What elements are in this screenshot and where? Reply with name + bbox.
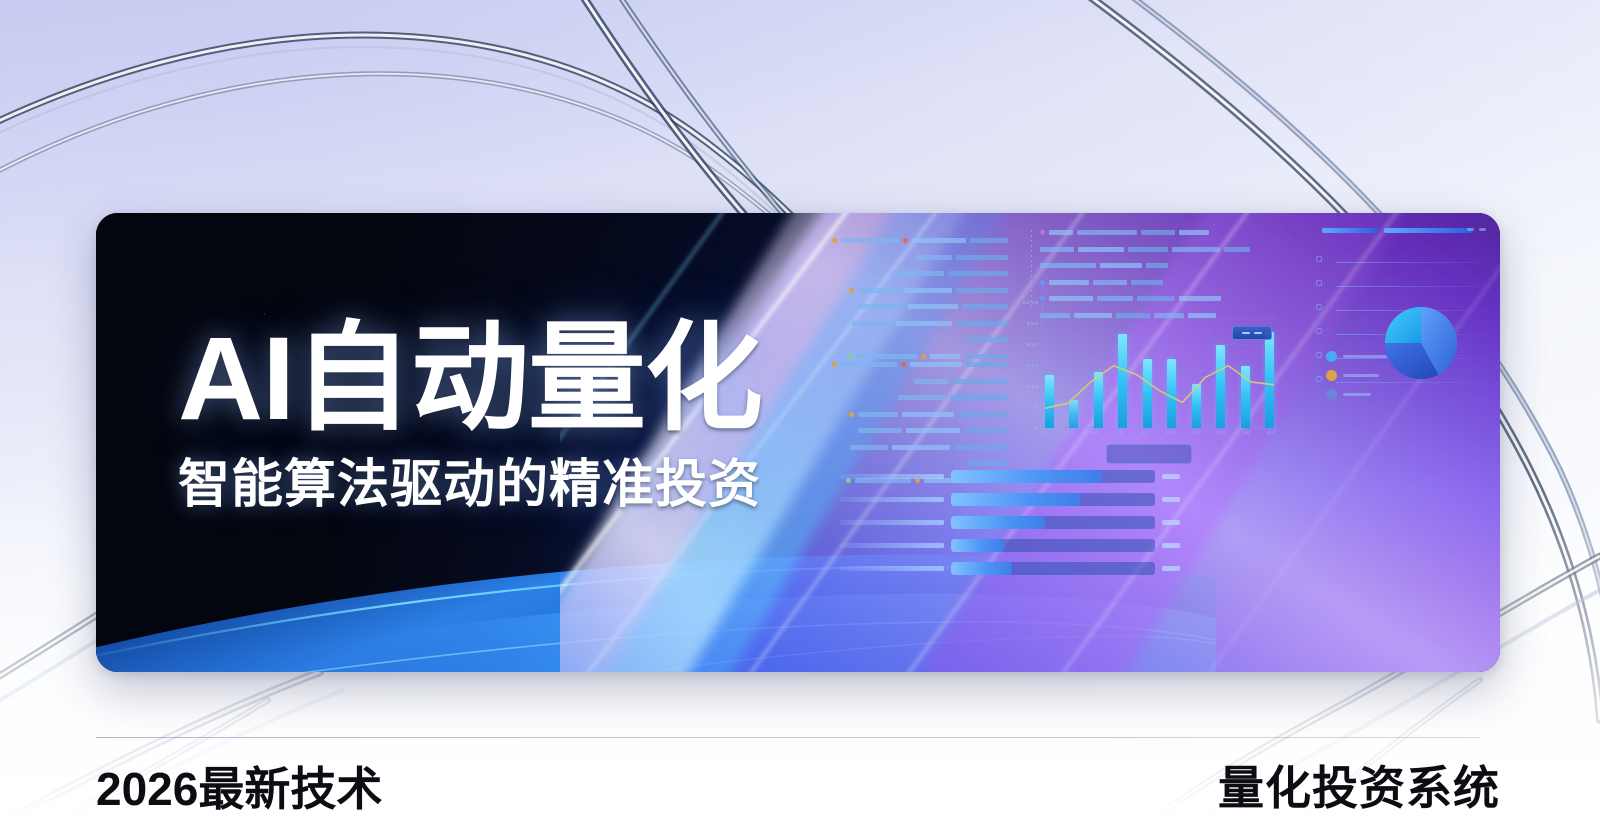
code-token: [1100, 263, 1142, 268]
chart-x-tick-label: 5/10: [1165, 430, 1174, 435]
code-line: [832, 286, 1008, 295]
legend-swatch: [1326, 370, 1337, 381]
chart-x-tick-label: 1/13: [1065, 430, 1074, 435]
code-line: [1040, 228, 1290, 237]
progress-label: [840, 497, 944, 502]
progress-value: [1162, 520, 1180, 525]
code-token: [857, 354, 917, 359]
panel-sidebar-icon[interactable]: [1316, 352, 1322, 358]
bar-chart: 0.0.7.02.5.08.2.00.1.01.4.000 0/31/132/1…: [1014, 300, 1276, 448]
chart-y-tick-label: 0: [1035, 405, 1038, 410]
hero-banner-card[interactable]: 0.0.7.02.5.08.2.00.1.01.4.000 0/31/132/1…: [96, 213, 1500, 672]
code-token: [848, 354, 853, 359]
code-token: [1040, 280, 1045, 285]
code-token: [1078, 247, 1124, 252]
code-token: [1049, 280, 1089, 285]
code-token: [958, 412, 1008, 417]
panel-sidebar-icon[interactable]: [1316, 376, 1322, 382]
code-line: [832, 269, 1008, 278]
chart-y-tick-label: 0: [1035, 426, 1038, 431]
code-line: [832, 459, 1008, 468]
pie-legend-row: [1326, 351, 1387, 362]
vertical-dotted-divider: [1031, 230, 1032, 308]
chart-plot-area: [1042, 304, 1276, 428]
page-subtitle: 智能算法驱动的精准投资: [178, 457, 838, 514]
pie-legend-row: [1326, 370, 1387, 381]
chart-x-tick-label: 5/1X: [1216, 430, 1225, 435]
code-token: [841, 362, 897, 367]
chart-x-axis: 0/31/132/193/153/145/106/1X5/1X1/606/17: [1042, 430, 1276, 435]
code-token: [921, 354, 926, 359]
code-token: [902, 412, 954, 417]
code-token: [1040, 247, 1074, 252]
code-token: [908, 304, 958, 309]
code-line: [832, 360, 1008, 369]
code-token: [892, 271, 944, 276]
code-token: [898, 395, 946, 400]
code-token: [1049, 230, 1073, 235]
pie-slice: [1385, 307, 1421, 343]
code-token: [1093, 280, 1127, 285]
chart-x-tick-label: 6/1X: [1191, 430, 1200, 435]
code-token: [912, 238, 967, 243]
progress-fill: [951, 539, 1004, 552]
code-token: [964, 428, 1008, 433]
panel-sidebar-icon[interactable]: [1316, 280, 1322, 286]
code-token: [970, 238, 1008, 243]
code-token: [1172, 247, 1220, 252]
chart-trend-line: [1045, 304, 1274, 427]
panel-top-dots: [1467, 228, 1486, 231]
progress-value: [1162, 543, 1180, 548]
code-line: [832, 236, 1008, 245]
code-token: [950, 395, 1008, 400]
code-line: [1040, 261, 1290, 270]
chart-y-tick-label: 0.1.0: [1027, 363, 1038, 368]
chart-x-tick-label: 3/15: [1115, 430, 1124, 435]
code-token: [1040, 230, 1045, 235]
code-token: [1224, 247, 1250, 252]
progress-row: [840, 562, 1180, 575]
code-token: [858, 428, 902, 433]
code-line: [1040, 245, 1290, 254]
code-line: [832, 302, 1008, 311]
code-token: [930, 354, 960, 359]
progress-label: [840, 474, 944, 479]
code-token: [850, 445, 888, 450]
legend-label: [1343, 393, 1371, 396]
code-token: [904, 288, 952, 293]
chart-y-axis: 0.0.7.02.5.08.2.00.1.01.4.000: [1014, 300, 1040, 428]
code-token: [849, 412, 854, 417]
code-token: [849, 288, 854, 293]
chart-y-tick-label: 8.2.0: [1027, 342, 1038, 347]
chart-x-tick-label: 1/60: [1242, 430, 1251, 435]
progress-fill: [951, 516, 1045, 529]
code-token: [1040, 263, 1096, 268]
chart-y-tick-label: 0.0.7.0: [1023, 300, 1038, 305]
code-line: [832, 410, 1008, 419]
code-token: [966, 337, 1008, 342]
progress-row: [840, 539, 1180, 552]
code-token: [906, 428, 960, 433]
code-token: [968, 461, 1008, 466]
chart-y-tick-label: 1.4.0: [1027, 384, 1038, 389]
code-token: [1146, 263, 1168, 268]
pie-legend: [1326, 351, 1387, 408]
code-token: [892, 445, 950, 450]
code-token: [966, 362, 1008, 367]
chart-x-tick-label: 2/19: [1090, 430, 1099, 435]
code-line: [832, 393, 1008, 402]
code-token: [962, 304, 1008, 309]
progress-fill: [951, 562, 1012, 575]
pie-chart: [1378, 300, 1464, 386]
panel-sidebar-icon[interactable]: [1316, 304, 1322, 310]
code-token: [852, 321, 892, 326]
code-token: [948, 271, 1008, 276]
progress-track: [951, 493, 1155, 506]
code-token: [956, 255, 1008, 260]
code-token: [1141, 230, 1175, 235]
code-line: [832, 253, 1008, 262]
panel-sidebar-icon[interactable]: [1316, 328, 1322, 334]
chart-x-tick-label: 3/14: [1140, 430, 1149, 435]
code-token: [954, 445, 1008, 450]
code-token: [841, 238, 899, 243]
panel-sidebar-icon[interactable]: [1316, 256, 1322, 262]
progress-value: [1162, 566, 1180, 571]
code-token: [1128, 247, 1168, 252]
progress-track: [951, 539, 1155, 552]
code-token: [964, 354, 1008, 359]
code-token: [956, 288, 1008, 293]
progress-value: [1162, 497, 1180, 502]
progress-row: [840, 493, 1180, 506]
footer-divider: [96, 737, 1480, 738]
legend-swatch: [1326, 389, 1337, 400]
chart-x-tick-label: 0/3: [1042, 430, 1048, 435]
code-token: [1131, 280, 1163, 285]
panel-top-bars: [1322, 228, 1472, 233]
code-token: [896, 321, 952, 326]
chart-y-tick-label: 2.5.0: [1027, 321, 1038, 326]
code-token: [910, 362, 962, 367]
code-token: [1179, 230, 1209, 235]
code-line: [832, 319, 1008, 328]
legend-label: [1343, 355, 1387, 358]
pie-legend-row: [1326, 389, 1387, 400]
panel-sidebar-icons[interactable]: [1316, 256, 1326, 400]
code-token: [901, 362, 906, 367]
code-token: [858, 304, 904, 309]
code-token: [956, 321, 1008, 326]
chart-x-tick-label: 6/17: [1267, 430, 1276, 435]
progress-label: [840, 520, 944, 525]
progress-bar-list: [840, 470, 1180, 585]
progress-row: [840, 516, 1180, 529]
code-line: [832, 426, 1008, 435]
progress-list-card: [1106, 444, 1192, 464]
code-token: [832, 238, 837, 243]
progress-track: [951, 516, 1155, 529]
code-line: [832, 443, 1008, 452]
progress-track: [951, 562, 1155, 575]
footer-right-label: 量化投资系统: [1218, 752, 1500, 818]
code-line: [832, 335, 1008, 344]
code-token: [858, 412, 898, 417]
code-token: [952, 379, 1008, 384]
code-token: [903, 238, 908, 243]
legend-swatch: [1326, 351, 1337, 362]
progress-row: [840, 470, 1180, 483]
code-token: [914, 379, 948, 384]
code-line: [832, 377, 1008, 386]
code-token: [1077, 230, 1137, 235]
footer-left-label: 2026最新技术: [96, 753, 382, 819]
progress-track: [951, 470, 1155, 483]
code-block-upper: [832, 236, 1008, 368]
progress-fill: [951, 493, 1080, 506]
legend-label: [1343, 374, 1379, 377]
code-token: [916, 255, 952, 260]
page-title: AI自动量化: [178, 318, 838, 441]
analytics-panel: [1300, 222, 1496, 422]
progress-fill: [951, 470, 1102, 483]
progress-value: [1162, 474, 1180, 479]
chart-tooltip: [1232, 326, 1272, 340]
code-token: [858, 288, 900, 293]
code-line: [1040, 278, 1290, 287]
progress-label: [840, 566, 944, 571]
hero-copy: AI自动量化 智能算法驱动的精准投资: [178, 318, 838, 514]
progress-label: [840, 543, 944, 548]
